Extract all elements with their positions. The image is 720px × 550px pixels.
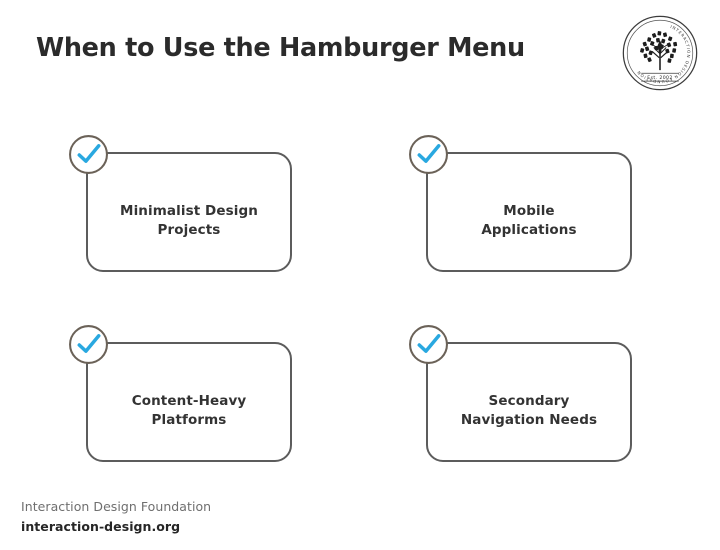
check-icon [68, 324, 109, 365]
checklist-card[interactable]: Secondary Navigation Needs [426, 342, 632, 462]
card-label: Mobile Applications [481, 202, 576, 240]
checklist-card[interactable]: Content-Heavy Platforms [86, 342, 292, 462]
interaction-design-foundation-logo: INTERACTION DESIGN FOUNDATION [621, 14, 699, 92]
footer: Interaction Design Foundation interactio… [21, 497, 211, 536]
check-icon [408, 134, 449, 175]
check-icon [68, 134, 109, 175]
slide-canvas: When to Use the Hamburger Menu INTERACTI… [0, 0, 720, 550]
checklist-card[interactable]: Mobile Applications [426, 152, 632, 272]
footer-organization: Interaction Design Foundation [21, 497, 211, 516]
card-label: Content-Heavy Platforms [132, 392, 247, 430]
checklist-card-grid: Minimalist Design Projects Mobile Applic… [86, 152, 632, 462]
svg-text:Est. 2002: Est. 2002 [647, 75, 673, 81]
check-icon [408, 324, 449, 365]
card-label: Minimalist Design Projects [120, 202, 258, 240]
footer-url[interactable]: interaction-design.org [21, 517, 211, 536]
card-label: Secondary Navigation Needs [461, 392, 597, 430]
page-title: When to Use the Hamburger Menu [36, 33, 525, 63]
checklist-card[interactable]: Minimalist Design Projects [86, 152, 292, 272]
